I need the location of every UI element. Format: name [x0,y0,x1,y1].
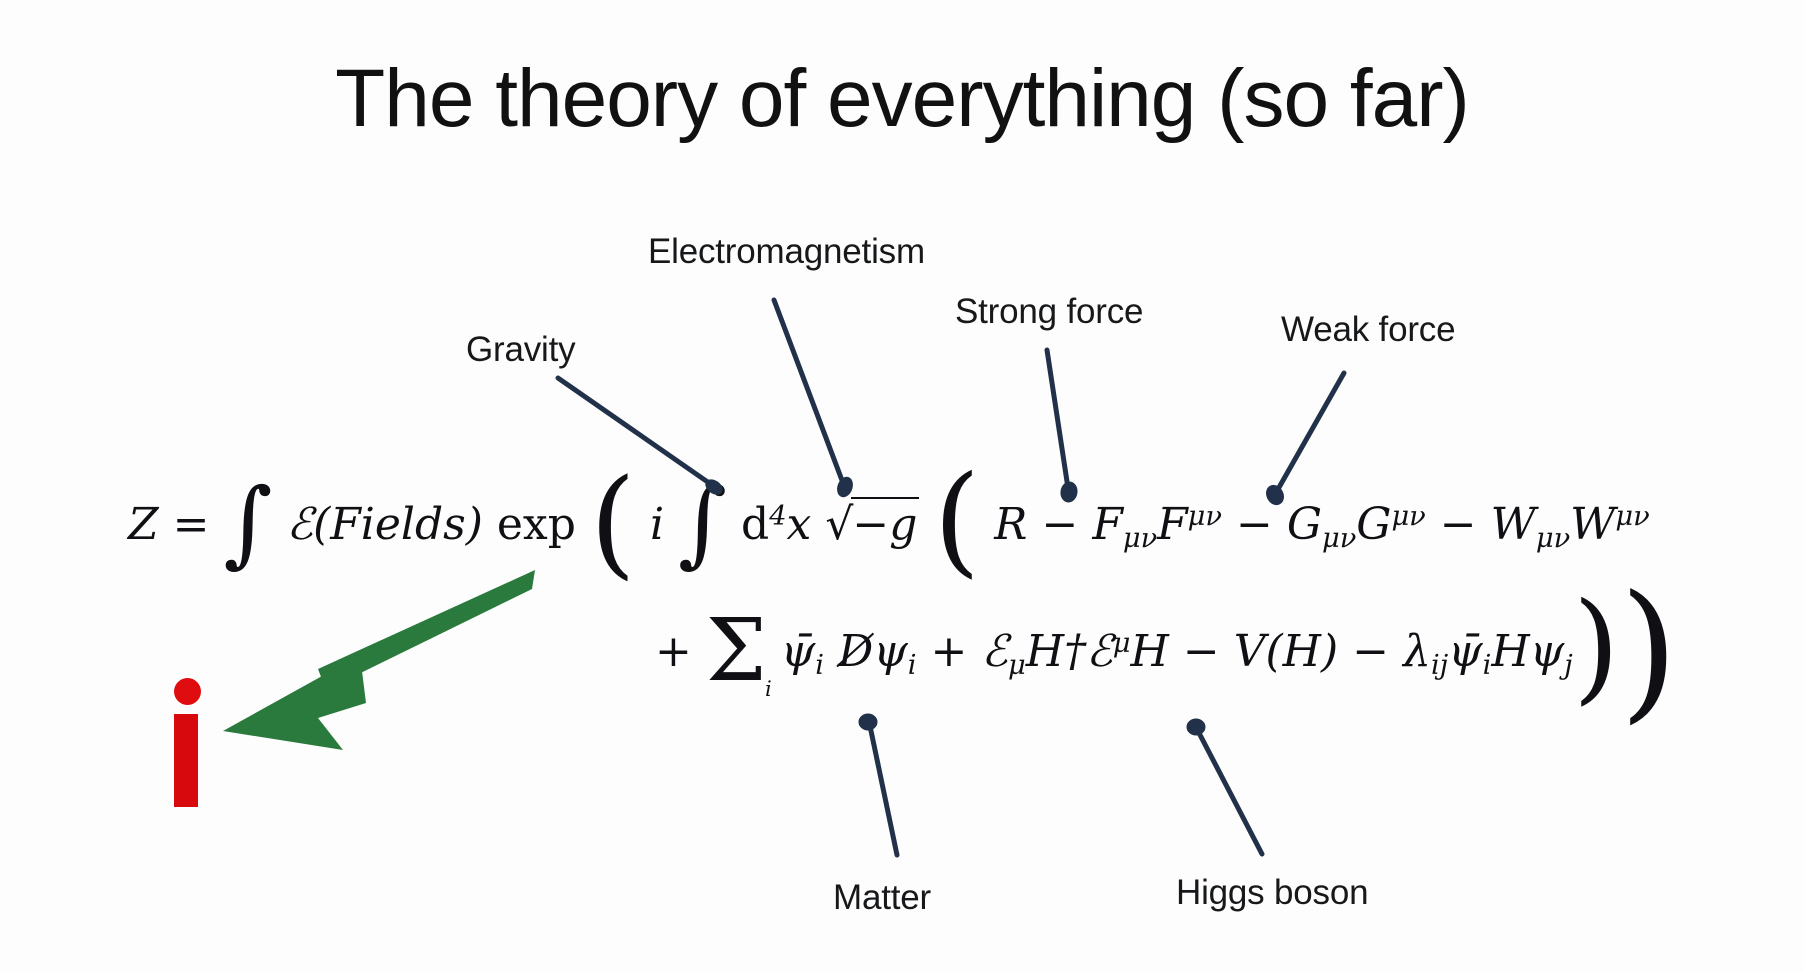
leader-dot-electromagnetism [835,475,855,499]
label-gravity: Gravity [466,330,575,370]
eq-differential-d: d [741,499,769,550]
leader-line-higgs-boson [1198,731,1262,854]
eq2-close-paren-outer: ) [1620,564,1679,738]
eq2-yukawa-indices: ij [1431,650,1448,681]
eq-exp: exp [497,499,576,550]
green-arrow-shaft [318,570,535,690]
label-strong-force: Strong force [955,292,1143,332]
label-matter: Matter [833,878,931,918]
eq-gluon-tensor-upper: G [1356,499,1391,550]
eq2-psi-2: ψ [1530,626,1565,677]
eq-gluon-tensor-lower: G [1287,499,1322,550]
eq2-dirac-slash: D̸ [838,626,873,677]
red-i-marker-dot [174,678,201,705]
eq2-covariant-derivative-2-index: μ [1113,628,1131,659]
eq2-summation: Σ [706,601,767,701]
slide-canvas: The theory of everything (so far) Z = ∫ … [0,0,1804,972]
eq-equals: = [173,499,210,550]
equation-line-1: Z = ∫ ℰ(Fields) exp ( i ∫ d4x √−g ( R − … [128,498,1650,554]
eq2-plus-2: + [930,626,967,677]
eq-imaginary-unit: i [650,499,664,550]
eq2-summation-index: i [765,677,772,701]
eq-minus-3: − [1440,499,1477,550]
eq-em-tensor-lower: F [1092,499,1123,550]
page-title: The theory of everything (so far) [0,52,1804,146]
eq2-minus-2: − [1352,626,1389,677]
eq-integral-inner: ∫ [678,469,727,578]
green-arrow-head [223,655,366,750]
eq-minus-2: − [1236,499,1273,550]
label-electromagnetism: Electromagnetism [648,232,925,272]
eq-minus-1: − [1041,499,1078,550]
eq-differential-var: x [787,499,812,550]
eq-em-tensor-upper: F [1157,499,1188,550]
eq2-yukawa-coupling: λ [1403,626,1431,677]
eq2-psi-bar: ψ̄ [781,626,816,677]
eq-integral-outer: ∫ [223,469,272,578]
eq-sqrt-body: −g [851,497,919,550]
eq2-higgs-2: H [1491,626,1529,677]
eq-symbol-Z: Z [128,499,159,550]
red-i-marker-stem [174,714,198,807]
eq2-minus-1: − [1183,626,1220,677]
leader-line-electromagnetism [774,300,843,483]
eq-weak-tensor-upper: W [1570,499,1615,550]
leader-dot-higgs-boson [1187,719,1205,735]
eq2-higgs-potential: V(H) [1234,626,1338,677]
eq2-psi: ψ [873,626,908,677]
eq-weak-tensor-lower: W [1491,499,1536,550]
leader-line-weak-force [1277,373,1344,491]
eq-open-paren-outer: ( [590,453,636,591]
leader-line-strong-force [1047,350,1068,488]
eq-em-tensor-lower-indices: μν [1123,523,1157,554]
eq2-psi-index: i [908,650,917,681]
leader-dot-matter [859,714,877,730]
eq-em-tensor-upper-indices: μν [1188,501,1222,532]
eq-open-paren-inner: ( [933,451,980,590]
eq-weak-tensor-lower-indices: μν [1536,523,1570,554]
eq2-close-paren-inner: ) [1573,578,1620,717]
eq2-plus-1: + [655,626,692,677]
equation-line-2: + Σi ψ̄i D̸ψi + ℰμH†ℰμH − V(H) − λijψ̄iH… [655,615,1678,681]
label-weak-force: Weak force [1281,310,1455,350]
eq2-higgs: H [1130,626,1168,677]
eq2-covariant-derivative: ℰ [981,626,1008,677]
eq-sqrt-sign: √ [825,499,853,550]
eq2-covariant-derivative-index: μ [1008,650,1026,681]
leader-line-matter [870,726,897,855]
green-arrow [223,570,535,750]
eq2-psi-bar-2: ψ̄ [1448,626,1483,677]
eq-measure: ℰ(Fields) [286,499,482,550]
eq2-covariant-derivative-2: ℰ [1086,626,1113,677]
eq-ricci-scalar: R [994,499,1027,550]
eq-differential-exponent: 4 [769,501,786,532]
eq-gluon-tensor-lower-indices: μν [1322,523,1356,554]
eq-gluon-tensor-upper-indices: μν [1391,501,1425,532]
label-higgs-boson: Higgs boson [1176,873,1368,913]
eq2-higgs-dagger: H† [1026,626,1086,677]
eq2-psi-2-index: j [1564,650,1572,681]
eq-weak-tensor-upper-indices: μν [1615,501,1649,532]
eq2-psi-bar-index: i [815,650,824,681]
